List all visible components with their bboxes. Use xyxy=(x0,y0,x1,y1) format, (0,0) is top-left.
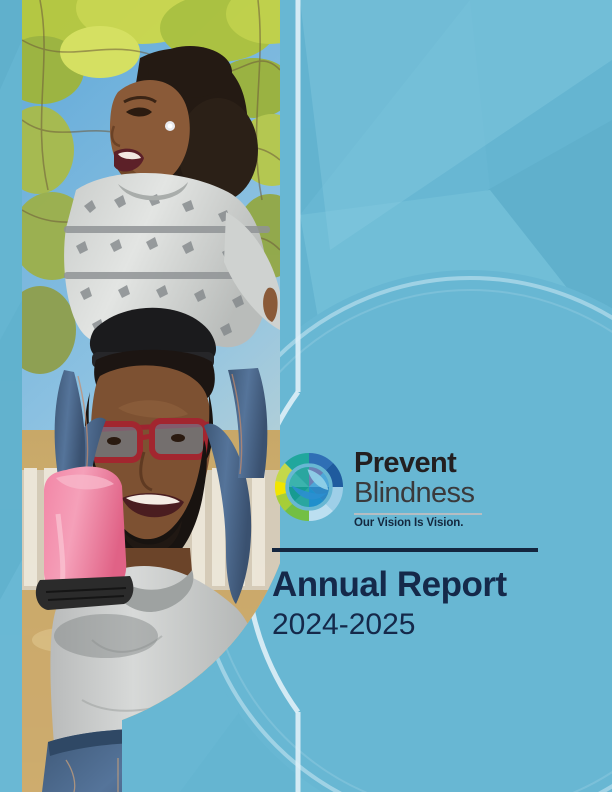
wordmark-blindness: Blindness xyxy=(354,478,572,509)
page-title: Annual Report xyxy=(272,566,538,604)
wordmark-divider xyxy=(354,513,482,515)
report-years: 2024-2025 xyxy=(272,608,538,642)
father-and-child-outdoors-photo xyxy=(22,0,280,792)
logo-tagline: Our Vision Is Vision. xyxy=(354,517,572,529)
prevent-blindness-circle-mark xyxy=(272,450,346,524)
prevent-blindness-logo: Prevent Blindness Our Vision Is Vision. xyxy=(272,448,572,540)
title-divider-rule xyxy=(272,548,538,552)
logo-wordmark: Prevent Blindness Our Vision Is Vision. xyxy=(354,448,572,529)
annual-report-cover-page: Prevent Blindness Our Vision Is Vision. … xyxy=(0,0,612,792)
report-title-block: Annual Report 2024-2025 xyxy=(272,548,538,642)
wordmark-prevent: Prevent xyxy=(354,448,572,478)
